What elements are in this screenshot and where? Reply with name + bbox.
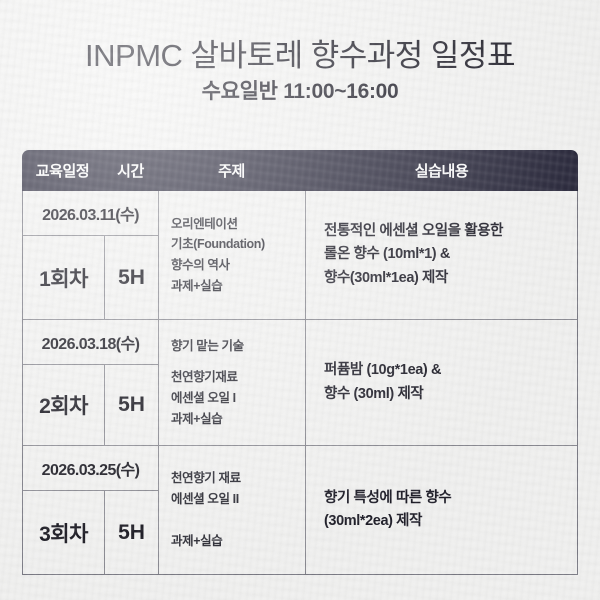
session-number: 3회차 <box>23 491 105 574</box>
table-row: 2026.03.11(수)1회차5H오리엔테이션기초(Foundation)향수… <box>23 191 577 320</box>
topic-line: 오리엔테이션 <box>171 214 305 235</box>
topic-cell: 오리엔테이션기초(Foundation)향수의 역사과제+실습 <box>159 191 306 319</box>
practice-line: 향기 특성에 따른 향수 <box>324 487 567 510</box>
title-block: INPMC 살바토레 향수과정 일정표 수요일반 11:00~16:00 <box>0 0 600 104</box>
schedule-cell: 2026.03.11(수)1회차5H <box>23 191 159 319</box>
topic-line: 과제+실습 <box>171 276 305 297</box>
page-subtitle: 수요일반 11:00~16:00 <box>0 80 600 104</box>
column-header-schedule: 교육일정 <box>22 160 103 181</box>
round-hours-group: 3회차5H <box>23 491 158 574</box>
session-hours: 5H <box>105 365 158 445</box>
topic-spacer <box>171 520 305 531</box>
schedule-cell: 2026.03.18(수)2회차5H <box>23 320 159 445</box>
table-header-row: 교육일정 시간 주제 실습내용 <box>22 150 578 191</box>
column-header-topic: 주제 <box>158 160 305 181</box>
topic-line: 기초(Foundation) <box>171 234 305 255</box>
topic-spacer <box>171 509 305 520</box>
poster-page: INPMC 살바토레 향수과정 일정표 수요일반 11:00~16:00 교육일… <box>0 0 600 600</box>
practice-line: 향수 (30ml) 제작 <box>324 383 567 406</box>
column-header-time: 시간 <box>103 160 158 181</box>
practice-line: 향수(30ml*1ea) 제작 <box>324 267 567 290</box>
practice-line: 롤온 향수 (10ml*1) & <box>324 243 567 266</box>
topic-line: 과제+실습 <box>171 531 305 552</box>
practice-line: (30ml*2ea) 제작 <box>324 510 567 533</box>
topic-spacer <box>171 356 305 367</box>
session-number: 2회차 <box>23 365 105 445</box>
schedule-cell: 2026.03.25(수)3회차5H <box>23 446 159 574</box>
topic-line: 향수의 역사 <box>171 255 305 276</box>
topic-cell: 천연향기 재료에센셜 오일 II과제+실습 <box>159 446 306 574</box>
topic-line: 에센셜 오일 I <box>171 388 305 409</box>
topic-line: 천연향기재료 <box>171 367 305 388</box>
topic-line: 에센셜 오일 II <box>171 489 305 510</box>
session-hours: 5H <box>105 236 158 319</box>
table-row: 2026.03.25(수)3회차5H천연향기 재료에센셜 오일 II과제+실습향… <box>23 446 577 574</box>
course-date: 2026.03.11(수) <box>23 191 158 236</box>
page-title: INPMC 살바토레 향수과정 일정표 <box>0 38 600 74</box>
course-date: 2026.03.18(수) <box>23 320 158 365</box>
session-number: 1회차 <box>23 236 105 319</box>
practice-cell: 퍼퓸밤 (10g*1ea) &향수 (30ml) 제작 <box>306 320 577 445</box>
column-header-practice: 실습내용 <box>305 160 578 181</box>
topic-line: 과제+실습 <box>171 409 305 430</box>
round-hours-group: 2회차5H <box>23 365 158 445</box>
table-body: 2026.03.11(수)1회차5H오리엔테이션기초(Foundation)향수… <box>22 191 578 575</box>
table-row: 2026.03.18(수)2회차5H향기 맡는 기술천연향기재료에센셜 오일 I… <box>23 320 577 446</box>
practice-cell: 향기 특성에 따른 향수(30ml*2ea) 제작 <box>306 446 577 574</box>
topic-cell: 향기 맡는 기술천연향기재료에센셜 오일 I과제+실습 <box>159 320 306 445</box>
practice-cell: 전통적인 에센셜 오일을 활용한롤온 향수 (10ml*1) &향수(30ml*… <box>306 191 577 319</box>
practice-line: 퍼퓸밤 (10g*1ea) & <box>324 359 567 382</box>
round-hours-group: 1회차5H <box>23 236 158 319</box>
practice-line: 전통적인 에센셜 오일을 활용한 <box>324 220 567 243</box>
topic-line: 향기 맡는 기술 <box>171 336 305 357</box>
schedule-table: 교육일정 시간 주제 실습내용 2026.03.11(수)1회차5H오리엔테이션… <box>22 150 578 575</box>
topic-line: 천연향기 재료 <box>171 468 305 489</box>
course-date: 2026.03.25(수) <box>23 446 158 491</box>
session-hours: 5H <box>105 491 158 574</box>
